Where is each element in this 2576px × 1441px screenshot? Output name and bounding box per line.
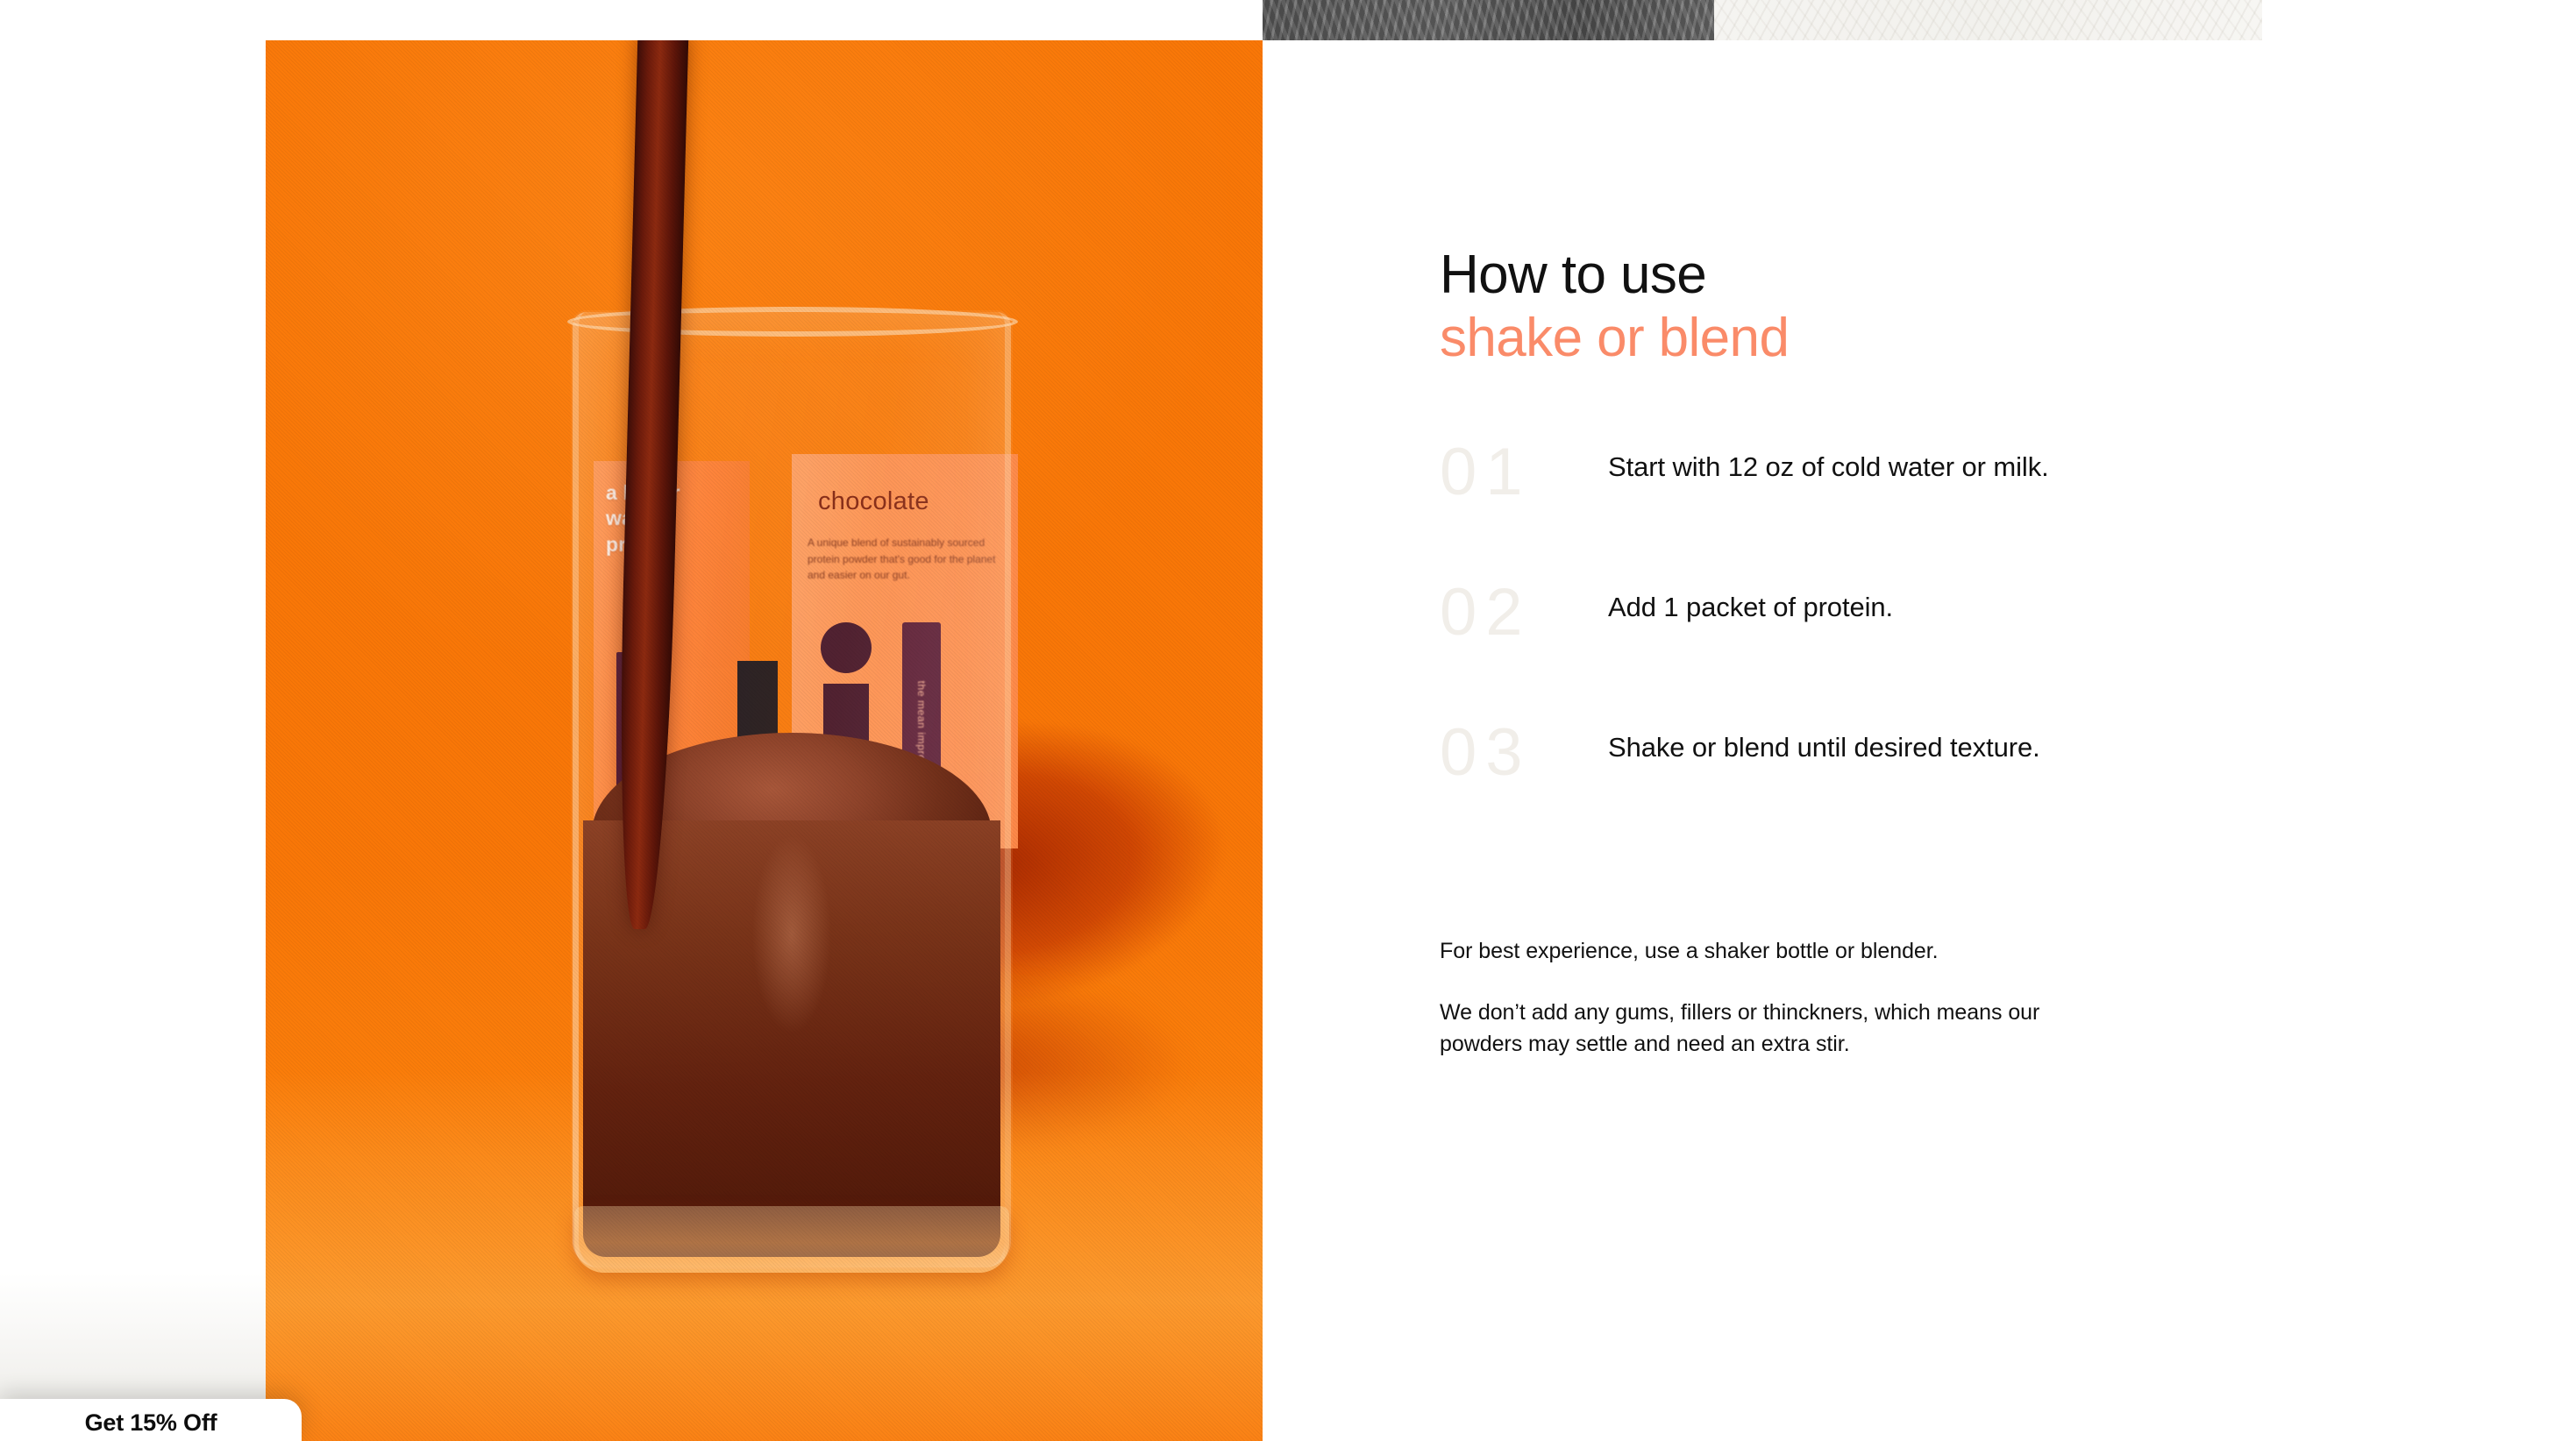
step-number: 01: [1440, 439, 1532, 506]
how-to-use-section: How to use shake or blend 01 Start with …: [1440, 0, 2404, 1441]
steps-list: 01 Start with 12 oz of cold water or mil…: [1440, 450, 2141, 814]
step-number: 03: [1440, 720, 1532, 786]
step-item: 03 Shake or blend until desired texture.: [1440, 730, 2141, 814]
usage-note: For best experience, use a shaker bottle…: [1440, 936, 2089, 968]
step-text: Start with 12 oz of cold water or milk.: [1608, 450, 2117, 486]
usage-notes: For best experience, use a shaker bottle…: [1440, 936, 2089, 1060]
promo-backdrop-gradient: [0, 1273, 266, 1402]
liquid-highlight: [739, 829, 844, 1092]
step-text: Add 1 packet of protein.: [1608, 590, 2117, 626]
page-root: a better way to protein chocolate A uniq…: [0, 0, 2576, 1441]
step-number: 02: [1440, 579, 1532, 646]
promo-offer-tab[interactable]: Get 15% Off: [0, 1399, 302, 1441]
page-title: How to use shake or blend: [1440, 244, 1789, 370]
promo-offer-label: Get 15% Off: [85, 1409, 217, 1437]
step-text: Shake or blend until desired texture.: [1608, 730, 2117, 766]
usage-note: We don’t add any gums, fillers or thinck…: [1440, 997, 2089, 1061]
page-title-line1: How to use: [1440, 245, 1706, 305]
section-heading: How to use shake or blend: [1440, 244, 1789, 370]
glass-base: [574, 1206, 1009, 1273]
step-item: 02 Add 1 packet of protein.: [1440, 590, 2141, 674]
hero-product-image: a better way to protein chocolate A uniq…: [266, 40, 1263, 1441]
page-title-line2: shake or blend: [1440, 307, 1789, 370]
step-item: 01 Start with 12 oz of cold water or mil…: [1440, 450, 2141, 534]
